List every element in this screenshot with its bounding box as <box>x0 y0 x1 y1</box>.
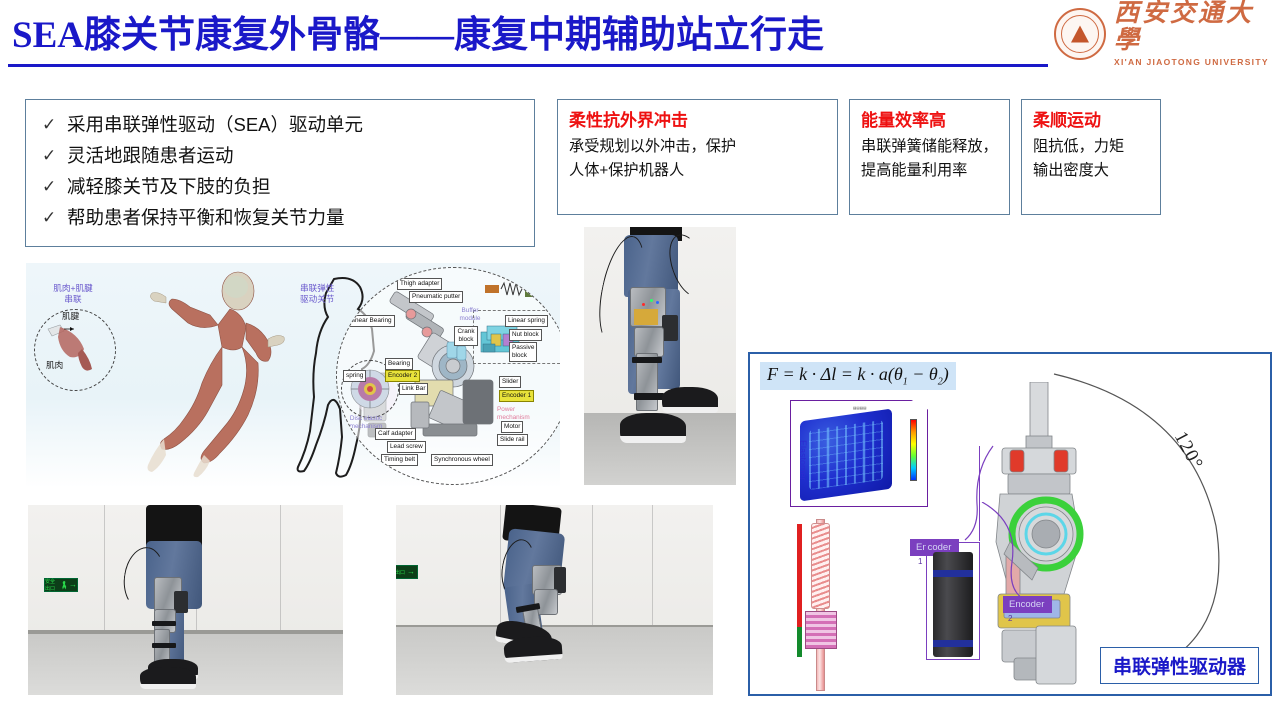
encoder-1-number: 1 <box>918 557 922 566</box>
exoskeleton-walking-photo-1: 安全出口 → <box>28 505 343 695</box>
feature-box-impact-resistance: 柔性抗外界冲击 承受规划以外冲击，保护 人体+保护机器人 <box>557 99 838 215</box>
label-linear-bearing: Linear Bearing <box>347 315 395 327</box>
sea-joint-label-line1: 串联弹性 <box>300 283 334 294</box>
check-icon: ✓ <box>42 171 57 202</box>
green-indicator-bar <box>797 627 802 657</box>
label-lead-screw: Lead screw <box>387 441 426 453</box>
bullet-item: ✓ 减轻膝关节及下肢的负担 <box>42 171 524 202</box>
label-pneumatic-putter: Pneumatic putter <box>409 291 463 303</box>
formula-eq: = <box>778 364 799 384</box>
feature-heading: 能量效率高 <box>861 108 1000 133</box>
formula-dot: · <box>807 364 821 384</box>
logo-english-name: XI'AN JIAOTONG UNIVERSITY <box>1114 57 1272 67</box>
bullet-item: ✓ 帮助患者保持平衡和恢复关节力量 <box>42 202 524 233</box>
formula-open: (θ <box>888 364 903 384</box>
label-encoder-2: Encoder 2 <box>385 370 420 382</box>
exo-strap-mid <box>152 643 176 648</box>
bullet-text: 采用串联弹性驱动（SEA）驱动单元 <box>67 109 363 140</box>
anatomy-mechanism-figure: 肌肉+肌腱 串联 肌腱 肌肉 <box>26 263 560 488</box>
feature-box-compliant-motion: 柔顺运动 阻抗低，力矩 输出密度大 <box>1021 99 1161 215</box>
range-of-motion-arc <box>1040 366 1250 676</box>
subject-shoe-back <box>503 635 563 663</box>
check-icon: ✓ <box>42 109 57 140</box>
slide-root: SEA膝关节康复外骨骼——康复中期辅助站立行走 西安交通大學 XI'AN JIA… <box>0 0 1280 720</box>
bullet-item: ✓ 灵活地跟随患者运动 <box>42 140 524 171</box>
exoskeleton-walking-photo-2: 出口 → <box>396 505 713 695</box>
status-led-red <box>642 303 645 306</box>
sea-actuator-technical-panel: F = k · Δl = k · a(θ1 − θ2) ▤▤▤▤ Elastom… <box>748 352 1272 696</box>
subject-shoe-front <box>140 667 196 689</box>
formula-F: F <box>767 364 778 384</box>
label-passive-block: Passive block <box>509 342 537 362</box>
formula-close: ) <box>943 364 949 384</box>
formula-k: k <box>799 364 807 384</box>
university-logo: 西安交通大學 XI'AN JIAOTONG UNIVERSITY <box>1054 4 1272 64</box>
label-motor: Motor <box>501 421 523 433</box>
formula-minus: − θ <box>908 364 938 384</box>
muscle-tendon-label-line2: 串联 <box>38 294 108 305</box>
page-title: SEA膝关节康复外骨骼——康复中期辅助站立行走 <box>12 8 1012 64</box>
label-slider: Slider <box>499 376 521 388</box>
feature-line: 人体+保护机器人 <box>569 159 828 183</box>
arrow-right-icon: → <box>69 581 77 589</box>
university-seal-icon <box>1054 8 1106 60</box>
label-link-bar: Link Bar <box>399 383 428 395</box>
elastomer-block <box>805 611 837 649</box>
bullet-text: 帮助患者保持平衡和恢复关节力量 <box>67 202 345 233</box>
photo-floor <box>396 627 713 695</box>
emergency-exit-sign: 安全出口 → <box>44 578 78 592</box>
feature-heading: 柔性抗外界冲击 <box>569 108 828 133</box>
exit-sign-text: 出口 <box>396 569 405 576</box>
label-thigh-adapter: Thigh adapter <box>397 278 442 290</box>
logo-chinese-name: 西安交通大學 <box>1114 1 1272 54</box>
encoder-2-number: 2 <box>1008 614 1012 623</box>
bullet-text: 灵活地跟随患者运动 <box>67 140 234 171</box>
label-linear-spring: Linear spring <box>505 315 548 327</box>
spring-elastomer-assembly <box>792 519 870 691</box>
label-synchronous-wheel: Synchronous wheel <box>431 454 493 466</box>
feature-box-energy-efficiency: 能量效率高 串联弹簧储能释放， 提高能量利用率 <box>849 99 1010 215</box>
status-led-blue <box>656 301 659 304</box>
exo-strap-lower <box>634 393 664 400</box>
exo-strap-upper <box>632 357 662 363</box>
exo-gold-plate <box>634 309 658 325</box>
label-encoder-1: Encoder 1 <box>499 390 534 402</box>
running-man-icon <box>62 581 67 590</box>
sea-mechanism-detail-circle: Thigh adapter Pneumatic putter Linear Be… <box>336 267 560 485</box>
muscle-tendon-label-line1: 肌肉+肌腱 <box>38 283 108 294</box>
bullet-text: 减轻膝关节及下肢的负担 <box>67 171 271 202</box>
runner-anatomy-figure <box>118 269 293 482</box>
feature-line: 串联弹簧储能释放， <box>861 135 1000 159</box>
logo-text-block: 西安交通大學 XI'AN JIAOTONG UNIVERSITY <box>1114 1 1272 67</box>
status-led-green <box>650 299 653 302</box>
sea-panel-caption: 串联弹性驱动器 <box>1100 647 1259 684</box>
formula-eq2: = <box>836 364 857 384</box>
muscle-tendon-illustration <box>40 315 112 385</box>
formula-a: a <box>879 364 888 384</box>
label-slide-rail: Slide rail <box>497 434 528 446</box>
fea-mesh-model <box>800 409 892 502</box>
label-calf-adapter: Calf adapter <box>375 428 416 440</box>
label-timing-belt: Timing belt <box>381 454 418 466</box>
feature-line: 阻抗低，力矩 <box>1033 135 1151 159</box>
exoskeleton-standing-photo <box>584 227 736 485</box>
compression-spring <box>811 523 830 609</box>
label-spring: spring <box>343 370 366 382</box>
title-underline <box>8 64 1048 67</box>
exo-strap-upper <box>152 621 176 626</box>
key-features-box: ✓ 采用串联弹性驱动（SEA）驱动单元 ✓ 灵活地跟随患者运动 ✓ 减轻膝关节及… <box>25 99 535 247</box>
arrow-right-icon: → <box>407 568 415 576</box>
linear-spring-icon <box>485 276 545 304</box>
fea-header-text: ▤▤▤▤ <box>853 406 867 410</box>
motor-highlight-box <box>926 542 980 660</box>
sea-joint-label-line2: 驱动关节 <box>300 294 334 305</box>
label-buffer-module: Buffer module <box>455 306 485 324</box>
subject-shoe-right <box>662 387 718 413</box>
red-indicator-bar <box>797 524 802 627</box>
formula-dl: Δl <box>821 364 837 384</box>
subject-shoe-left <box>620 413 686 443</box>
exit-sign-text: 安全出口 <box>45 578 60 592</box>
exo-motor-block <box>662 315 678 341</box>
fea-leader-curve <box>905 444 995 544</box>
feature-line: 提高能量利用率 <box>861 159 1000 183</box>
label-crank-block: Crank block <box>454 326 478 346</box>
label-bearing: Bearing <box>385 358 413 370</box>
elastomer-label: Elastomer <box>798 440 808 481</box>
label-nut-block: Nut block <box>509 329 542 341</box>
emergency-exit-sign: 出口 → <box>396 565 418 579</box>
exo-motor-block <box>174 591 188 613</box>
bullet-item: ✓ 采用串联弹性驱动（SEA）驱动单元 <box>42 109 524 140</box>
check-icon: ✓ <box>42 140 57 171</box>
feature-heading: 柔顺运动 <box>1033 108 1151 133</box>
feature-line: 承受规划以外冲击，保护 <box>569 135 828 159</box>
formula-dot2: · <box>865 364 879 384</box>
muscle-label: 肌肉 <box>46 360 63 371</box>
sea-force-formula: F = k · Δl = k · a(θ1 − θ2) <box>760 362 956 390</box>
tendon-label: 肌腱 <box>62 311 79 322</box>
feature-line: 输出密度大 <box>1033 159 1151 183</box>
check-icon: ✓ <box>42 202 57 233</box>
